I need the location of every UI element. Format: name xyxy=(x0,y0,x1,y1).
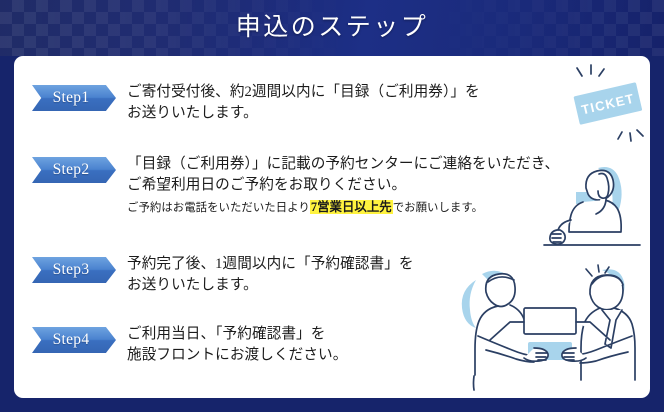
step-badge-label-4: Step4 xyxy=(32,327,110,353)
step-item-4: Step4 ご利用当日、「予約確認書」を 施設フロントにお渡しください。 xyxy=(32,324,347,366)
step-line-4-2: 施設フロントにお渡しください。 xyxy=(127,345,347,366)
step-badge-4: Step4 xyxy=(32,327,116,353)
step-line-1-2: お送りいたします。 xyxy=(127,103,480,124)
page-title: 申込のステップ xyxy=(0,0,664,56)
step-item-3: Step3 予約完了後、1週間以内に「予約確認書」を お送りいたします。 xyxy=(32,254,414,296)
ticket-icon: TICKET xyxy=(560,64,650,142)
step-badge-3: Step3 xyxy=(32,257,116,283)
person-on-phone-illustration xyxy=(536,158,648,250)
step-line-4-1: ご利用当日、「予約確認書」を xyxy=(127,324,347,345)
step-text-2: 「目録（ご利用券）」に記載の予約センターにご連絡をいただき、 ご希望利用日のご予… xyxy=(127,154,559,217)
steps-card: Step1 ご寄付受付後、約2週間以内に「目録（ご利用券）」を お送りいたします… xyxy=(14,56,650,398)
step-item-2: Step2 「目録（ご利用券）」に記載の予約センターにご連絡をいただき、 ご希望… xyxy=(32,154,559,217)
step-badge-label-3: Step3 xyxy=(32,257,110,283)
step-note-2: ご予約はお電話をいただいた日より7営業日以上先でお願いします。 xyxy=(127,198,559,217)
step-text-4: ご利用当日、「予約確認書」を 施設フロントにお渡しください。 xyxy=(127,324,347,366)
step-line-1-1: ご寄付受付後、約2週間以内に「目録（ご利用券）」を xyxy=(127,82,480,103)
step-badge-label-1: Step1 xyxy=(32,85,110,111)
step-note-2-highlight: 7営業日以上先 xyxy=(310,200,393,214)
step-line-2-1: 「目録（ご利用券）」に記載の予約センターにご連絡をいただき、 xyxy=(127,154,559,175)
step-badge-label-2: Step2 xyxy=(32,157,110,183)
step-text-3: 予約完了後、1週間以内に「予約確認書」を お送りいたします。 xyxy=(127,254,414,296)
step-item-1: Step1 ご寄付受付後、約2週間以内に「目録（ご利用券）」を お送りいたします… xyxy=(32,82,480,124)
step-badge-1: Step1 xyxy=(32,85,116,111)
step-note-2-before: ご予約はお電話をいただいた日より xyxy=(127,202,310,214)
step-line-3-2: お送りいたします。 xyxy=(127,275,414,296)
header-band: 申込のステップ xyxy=(0,0,664,56)
application-steps-banner: 申込のステップ Step1 ご寄付受付後、約2週間以内に「目録（ご利用券）」を … xyxy=(0,0,664,412)
step-badge-2: Step2 xyxy=(32,157,116,183)
front-desk-handover-illustration xyxy=(452,264,648,392)
step-line-2-2: ご希望利用日のご予約をお取りください。 xyxy=(127,175,559,196)
step-text-1: ご寄付受付後、約2週間以内に「目録（ご利用券）」を お送りいたします。 xyxy=(127,82,480,124)
step-line-3-1: 予約完了後、1週間以内に「予約確認書」を xyxy=(127,254,414,275)
step-note-2-after: でお願いします。 xyxy=(393,202,483,214)
